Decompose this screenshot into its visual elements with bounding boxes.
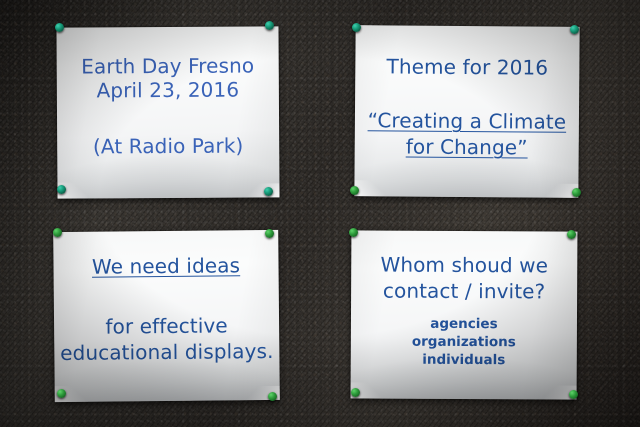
poster-need-ideas[interactable]: We need ideas for effective educational … <box>53 230 280 402</box>
pushpin-bottom-right[interactable] <box>569 390 578 399</box>
pushpin-top-left[interactable] <box>349 228 358 237</box>
paper-curl-bottom-left <box>354 180 384 196</box>
poster-whom-to-contact-line-1: Whom shoud we <box>351 253 577 277</box>
paper-curl-bottom-right <box>245 183 279 197</box>
pushpin-bottom-right[interactable] <box>572 188 581 197</box>
pushpin-top-right[interactable] <box>570 25 579 34</box>
bulletin-board: Earth Day Fresno April 23, 2016 (At Radi… <box>0 0 640 427</box>
pushpin-bottom-left[interactable] <box>350 186 359 195</box>
pushpin-top-left[interactable] <box>352 23 361 32</box>
poster-theme[interactable]: Theme for 2016 “Creating a Climate for C… <box>354 25 579 198</box>
poster-earth-day-line-1: Earth Day Fresno <box>57 54 279 79</box>
poster-earth-day-line-2: April 23, 2016 <box>57 78 279 103</box>
pushpin-bottom-left[interactable] <box>57 185 66 194</box>
pushpin-top-right[interactable] <box>567 230 576 239</box>
poster-whom-to-contact[interactable]: Whom shoud we contact / invite? agencies… <box>351 230 578 399</box>
pushpin-top-right[interactable] <box>265 229 274 238</box>
poster-earth-day-line-3: (At Radio Park) <box>57 134 279 159</box>
poster-theme-line-2: “Creating a Climate <box>355 109 579 134</box>
poster-theme-line-1: Theme for 2016 <box>355 55 579 80</box>
poster-whom-to-contact-line-2: contact / invite? <box>351 279 577 303</box>
pushpin-top-left[interactable] <box>53 228 62 237</box>
poster-whom-to-contact-item-organizations: organizations <box>351 334 577 351</box>
poster-earth-day[interactable]: Earth Day Fresno April 23, 2016 (At Radi… <box>56 26 279 198</box>
poster-theme-line-3: for Change” <box>355 135 579 160</box>
pushpin-bottom-left[interactable] <box>351 388 360 397</box>
poster-need-ideas-line-1: We need ideas <box>53 254 278 279</box>
pushpin-top-left[interactable] <box>55 23 64 32</box>
pushpin-bottom-right[interactable] <box>264 187 273 196</box>
poster-need-ideas-line-3: educational displays. <box>54 340 279 365</box>
poster-whom-to-contact-item-agencies: agencies <box>351 316 577 333</box>
pushpin-bottom-left[interactable] <box>57 389 66 398</box>
poster-whom-to-contact-item-individuals: individuals <box>351 352 577 369</box>
pushpin-bottom-right[interactable] <box>268 392 277 401</box>
poster-need-ideas-line-2: for effective <box>54 314 279 339</box>
pushpin-top-right[interactable] <box>265 21 274 30</box>
